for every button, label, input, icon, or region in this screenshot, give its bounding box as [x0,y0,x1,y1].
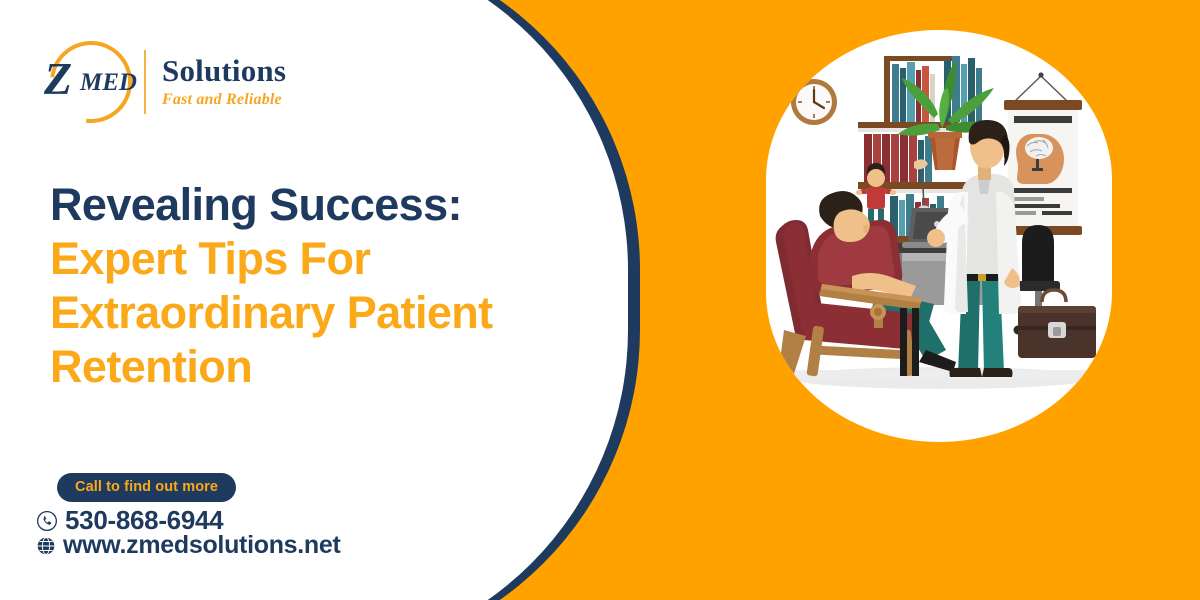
logo-word-med: MED [80,70,137,95]
headline-line-1: Revealing Success: [50,178,610,232]
illustration-capsule [766,30,1112,442]
contact-website[interactable]: www.zmedsolutions.net [36,531,341,560]
brand-logo[interactable]: Z MED Solutions Fast and Reliable [36,36,286,128]
logo-title: Solutions [162,55,286,88]
logo-divider [144,50,146,114]
headline-block: Revealing Success: Expert Tips For Extra… [50,178,610,394]
wall-clock-icon [791,79,837,125]
brain-anatomy-poster-icon [1004,72,1082,235]
globe-icon [36,536,56,556]
banner-root: Z MED Solutions Fast and Reliable Reveal… [0,0,1200,600]
call-to-action-button[interactable]: Call to find out more [57,473,236,502]
headline-line-4: Retention [50,340,610,394]
website-url: www.zmedsolutions.net [63,531,341,560]
headline-line-3: Extraordinary Patient [50,286,610,340]
psychotherapy-session-illustration [766,30,1112,442]
logo-text-block: Solutions Fast and Reliable [162,55,286,109]
phone-circle-icon [36,510,58,532]
logo-tagline: Fast and Reliable [162,91,286,109]
logo-mark: Z MED [36,36,140,128]
logo-letter-z: Z [44,56,71,102]
headline-line-2: Expert Tips For [50,232,610,286]
briefcase-icon [1018,290,1096,358]
